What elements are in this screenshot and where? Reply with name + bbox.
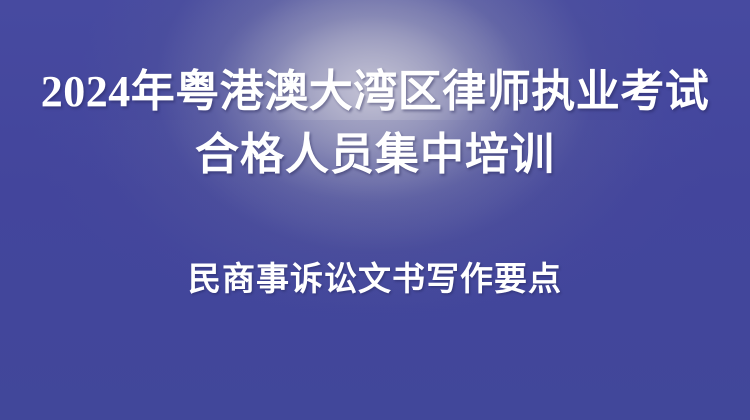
title-line-1: 2024年粤港澳大湾区律师执业考试 — [0, 60, 750, 123]
banner-content: 2024年粤港澳大湾区律师执业考试 合格人员集中培训 民商事诉讼文书写作要点 — [0, 0, 750, 420]
course-title-banner: 2024年粤港澳大湾区律师执业考试 合格人员集中培训 民商事诉讼文书写作要点 — [0, 0, 750, 420]
banner-subtitle: 民商事诉讼文书写作要点 — [0, 258, 750, 302]
title-line-2: 合格人员集中培训 — [0, 123, 750, 186]
banner-title: 2024年粤港澳大湾区律师执业考试 合格人员集中培训 — [0, 60, 750, 186]
subtitle-line-1: 民商事诉讼文书写作要点 — [0, 258, 750, 302]
